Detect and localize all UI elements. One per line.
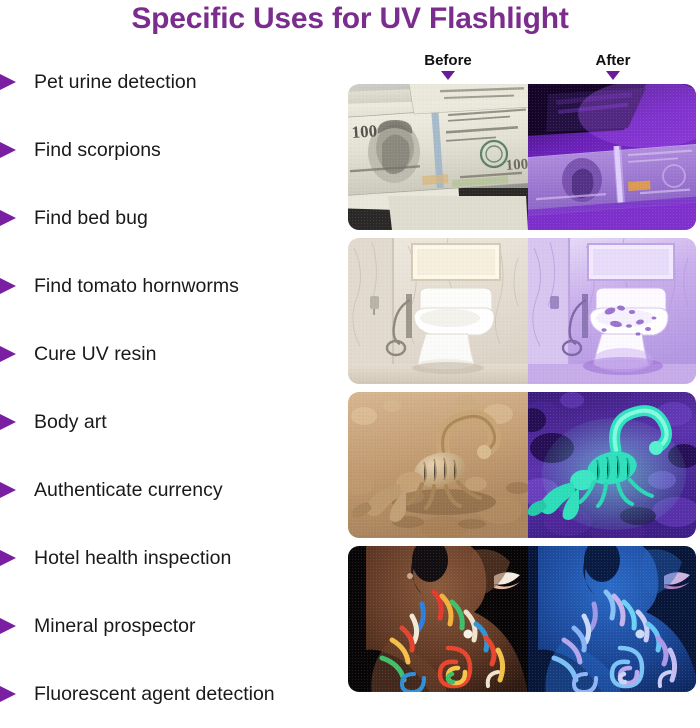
comparison-row-scorpion-detection <box>348 392 696 538</box>
list-item-label: Mineral prospector <box>34 615 195 637</box>
photo-before-body-art <box>348 546 528 692</box>
arrow-bullet-icon <box>0 479 16 501</box>
photo-after-currency <box>528 84 696 230</box>
arrow-bullet-icon <box>0 71 16 93</box>
list-item: Find scorpions <box>0 116 348 184</box>
arrow-bullet-icon <box>0 275 16 297</box>
list-item: Mineral prospector <box>0 592 348 660</box>
arrow-bullet-icon <box>0 139 16 161</box>
column-header-after-label: After <box>553 52 673 69</box>
arrow-bullet-icon <box>0 207 16 229</box>
list-item-label: Pet urine detection <box>34 71 197 93</box>
list-item: Authenticate currency <box>0 456 348 524</box>
arrow-bullet-icon <box>0 683 16 705</box>
list-item-label: Find bed bug <box>34 207 148 229</box>
column-header-after: After <box>553 52 673 80</box>
photo-after-body-art <box>528 546 696 692</box>
comparison-image-grid: 100 100 <box>348 84 696 688</box>
list-item-label: Cure UV resin <box>34 343 156 365</box>
list-item: Cure UV resin <box>0 320 348 388</box>
list-item-label: Body art <box>34 411 107 433</box>
caret-down-icon <box>441 71 455 80</box>
arrow-bullet-icon <box>0 411 16 433</box>
photo-after-scorpion <box>528 392 696 538</box>
comparison-row-body-art <box>348 546 696 692</box>
page-title: Specific Uses for UV Flashlight <box>0 2 700 36</box>
photo-after-bathroom <box>528 238 696 384</box>
column-header-before: Before <box>388 52 508 80</box>
list-item: Hotel health inspection <box>0 524 348 592</box>
list-item: Find tomato hornworms <box>0 252 348 320</box>
caret-down-icon <box>606 71 620 80</box>
list-item-label: Fluorescent agent detection <box>34 683 275 705</box>
photo-before-bathroom <box>348 238 528 384</box>
comparison-row-currency-authentication: 100 100 <box>348 84 696 230</box>
list-item: Body art <box>0 388 348 456</box>
arrow-bullet-icon <box>0 343 16 365</box>
list-item-label: Hotel health inspection <box>34 547 231 569</box>
photo-before-scorpion <box>348 392 528 538</box>
column-header-before-label: Before <box>388 52 508 69</box>
list-item-label: Find tomato hornworms <box>34 275 239 297</box>
list-item-label: Authenticate currency <box>34 479 223 501</box>
list-item: Find bed bug <box>0 184 348 252</box>
svg-text:100: 100 <box>505 156 528 174</box>
list-item-label: Find scorpions <box>34 139 161 161</box>
photo-before-currency: 100 100 <box>348 84 528 230</box>
arrow-bullet-icon <box>0 547 16 569</box>
feature-list: Pet urine detection Find scorpions Find … <box>0 48 348 728</box>
svg-text:100: 100 <box>351 121 378 142</box>
comparison-row-hotel-health-inspection <box>348 238 696 384</box>
arrow-bullet-icon <box>0 615 16 637</box>
list-item: Pet urine detection <box>0 48 348 116</box>
list-item: Fluorescent agent detection <box>0 660 348 728</box>
